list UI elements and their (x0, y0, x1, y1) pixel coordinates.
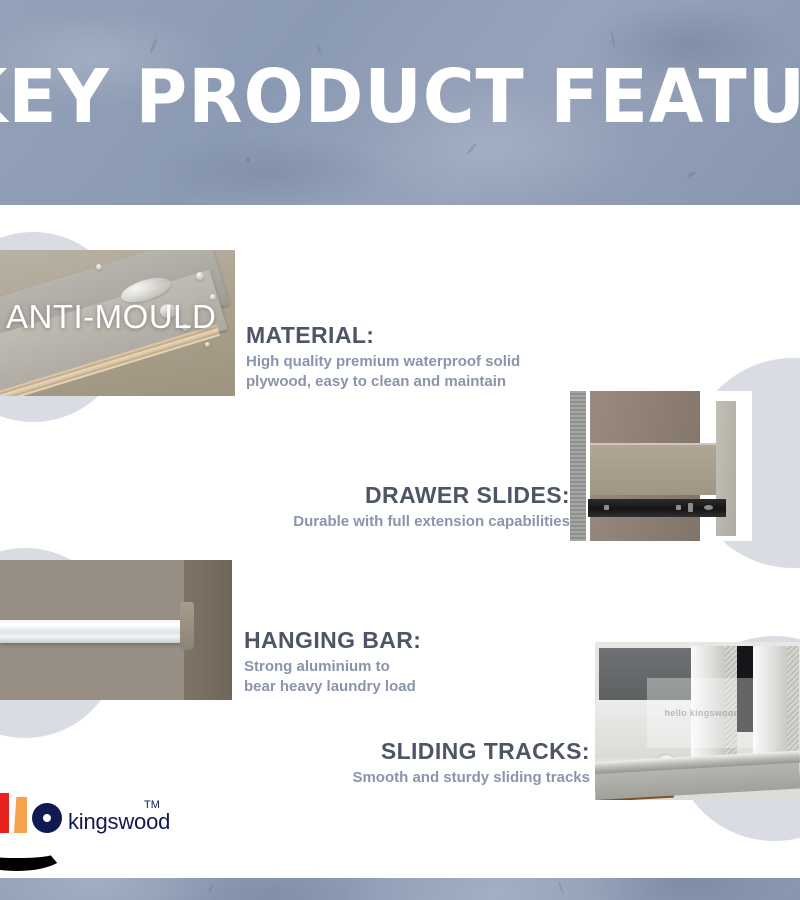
feature-text-hanging-bar: HANGING BAR: Strong aluminium to bear he… (244, 625, 574, 697)
feature-description-hanging-bar-line2: bear heavy laundry load (244, 678, 416, 695)
feature-description-hanging-bar-line1: Strong aluminium to (244, 658, 390, 675)
feature-title-sliding-tracks: SLIDING TRACKS: (250, 736, 590, 766)
logo-bar-orange-icon (14, 797, 27, 833)
feature-description-sliding-tracks: Smooth and sturdy sliding tracks (250, 768, 590, 788)
feature-image-drawer-slides (570, 391, 752, 541)
feature-text-sliding-tracks: SLIDING TRACKS: Smooth and sturdy slidin… (250, 736, 590, 788)
feature-description-material: High quality premium waterproof solid pl… (246, 352, 576, 392)
logo-trademark-symbol: TM (144, 799, 160, 811)
feature-infographic-page: KEY PRODUCT FEATURES ANTI-MOULD MATERIAL… (0, 0, 800, 900)
logo-bar-red-icon (0, 793, 9, 833)
feature-description-material-line2: plywood, easy to clean and maintain (246, 373, 506, 390)
image-watermark: hello kingswood (647, 678, 757, 748)
feature-title-hanging-bar: HANGING BAR: (244, 625, 574, 655)
page-title: KEY PRODUCT FEATURES (0, 55, 800, 139)
feature-title-drawer-slides: DRAWER SLIDES: (230, 480, 570, 510)
feature-description-hanging-bar: Strong aluminium to bear heavy laundry l… (244, 657, 574, 697)
footer-band (0, 878, 800, 900)
logo-letter-o-icon (32, 803, 62, 833)
brand-logo: e kingswood TM (0, 793, 182, 875)
feature-image-hanging-bar (0, 560, 232, 700)
anti-mould-overlay-label: ANTI-MOULD (6, 298, 216, 336)
logo-smile-icon (0, 837, 64, 871)
feature-text-drawer-slides: DRAWER SLIDES: Durable with full extensi… (230, 480, 570, 532)
feature-description-drawer-slides: Durable with full extension capabilities (230, 512, 570, 532)
feature-title-material: MATERIAL: (246, 320, 576, 350)
feature-image-sliding-tracks: hello kingswood (595, 642, 800, 800)
feature-text-material: MATERIAL: High quality premium waterproo… (246, 320, 576, 392)
feature-description-material-line1: High quality premium waterproof solid (246, 353, 520, 370)
logo-brand-name: kingswood (68, 809, 170, 835)
